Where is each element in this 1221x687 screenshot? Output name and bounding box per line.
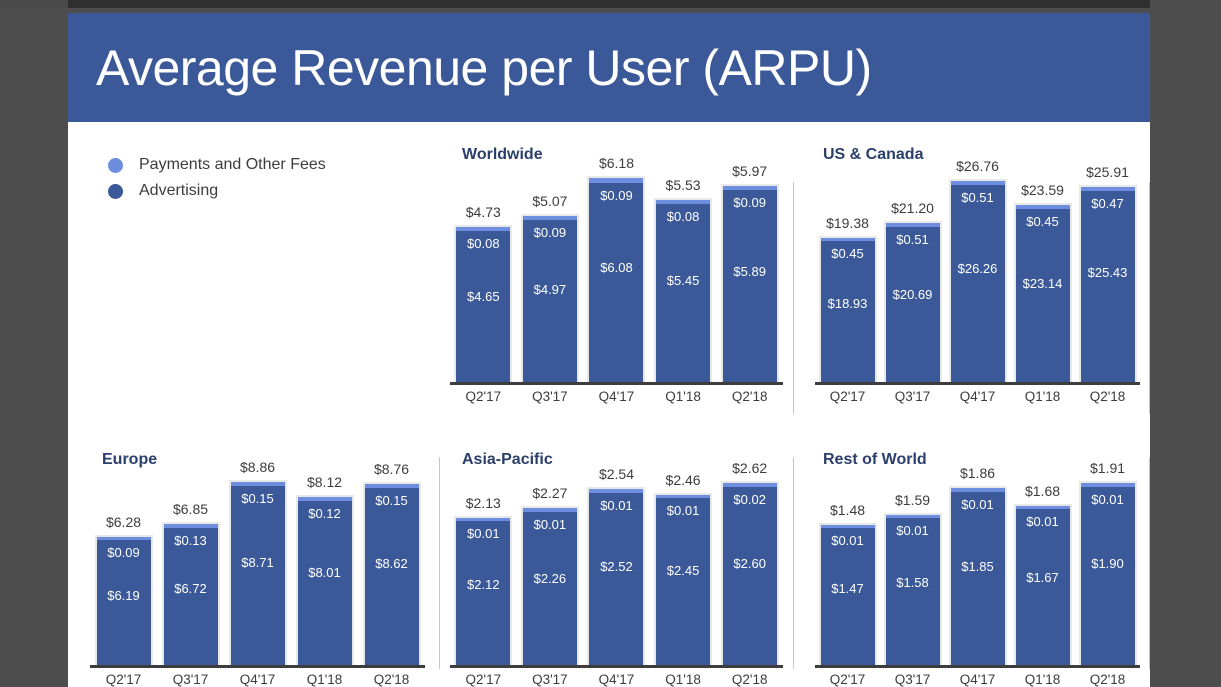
bar-segment-advertising: $0.15$8.71: [231, 486, 285, 668]
bar-slot[interactable]: $2.46$0.01$2.45: [650, 447, 717, 668]
bar-slot[interactable]: $23.59$0.45$23.14: [1010, 142, 1075, 385]
bar-segment-label-payments: $0.01: [1081, 492, 1135, 507]
bar-slot[interactable]: $26.76$0.51$26.26: [945, 142, 1010, 385]
bar-segment-advertising: $0.01$2.12: [456, 521, 510, 668]
x-axis-tick-label: Q4'17: [224, 672, 291, 687]
bar-group: $19.38$0.45$18.93$21.20$0.51$20.69$26.76…: [815, 142, 1140, 385]
bar-slot[interactable]: $1.48$0.01$1.47: [815, 447, 880, 668]
panel-divider: [1149, 457, 1150, 669]
bar-segment-label-payments: $0.02: [723, 492, 777, 507]
bar-segment-label-payments: $0.45: [1016, 214, 1070, 229]
x-axis-tick-label: Q1'18: [1010, 672, 1075, 687]
bar-slot[interactable]: $1.68$0.01$1.67: [1010, 447, 1075, 668]
x-axis-tick-label: Q1'18: [650, 672, 717, 687]
x-axis-line: [90, 665, 425, 668]
chart-row-bottom: Europe$6.28$0.09$6.19$6.85$0.13$6.72$8.8…: [68, 447, 1150, 687]
x-axis-line: [450, 382, 783, 385]
bar-group: $1.48$0.01$1.47$1.59$0.01$1.58$1.86$0.01…: [815, 447, 1140, 668]
x-axis-line: [450, 665, 783, 668]
bar-total-label: $25.91: [1086, 164, 1129, 180]
bar-segment-label-advertising: $4.65: [456, 289, 510, 304]
bar-group: $6.28$0.09$6.19$6.85$0.13$6.72$8.86$0.15…: [90, 447, 425, 668]
chart-legend: Payments and Other Fees Advertising: [80, 142, 435, 200]
bar-segment-advertising: $0.47$25.43: [1081, 191, 1135, 385]
bar-segment-label-payments: $0.09: [97, 545, 151, 560]
bar-total-label: $21.20: [891, 200, 934, 216]
panel-divider: [793, 457, 794, 669]
legend-item-label: Advertising: [139, 182, 218, 200]
stacked-bar[interactable]: $0.01$1.47: [819, 523, 877, 668]
bar-segment-advertising: $0.45$18.93: [821, 241, 875, 385]
bar-segment-label-payments: $0.08: [456, 236, 510, 251]
bar-segment-label-payments: $0.01: [456, 526, 510, 541]
bar-segment-advertising: $0.01$1.67: [1016, 509, 1070, 668]
bar-slot[interactable]: $8.76$0.15$8.62: [358, 447, 425, 668]
stacked-bar[interactable]: $0.12$8.01: [296, 495, 354, 668]
x-axis-tick-label: Q4'17: [583, 389, 650, 413]
stacked-bar[interactable]: $0.01$1.85: [949, 486, 1007, 668]
chart-title: US & Canada: [823, 146, 923, 164]
bar-segment-label-payments: $0.01: [1016, 514, 1070, 529]
chart-panel-europe: Europe$6.28$0.09$6.19$6.85$0.13$6.72$8.8…: [80, 447, 435, 687]
x-axis-tick-label: Q2'18: [716, 672, 783, 687]
bar-total-label: $2.54: [599, 466, 634, 482]
stacked-bar[interactable]: $0.08$5.45: [654, 198, 712, 385]
bar-segment-label-advertising: $6.19: [97, 588, 151, 603]
bar-slot[interactable]: $5.97$0.09$5.89: [716, 142, 783, 385]
bar-segment-label-advertising: $2.45: [656, 563, 710, 578]
chart-panel-worldwide: Worldwide$4.73$0.08$4.65$5.07$0.09$4.97$…: [440, 142, 793, 417]
bar-total-label: $19.38: [826, 215, 869, 231]
bar-segment-label-advertising: $5.45: [656, 273, 710, 288]
circle-icon: [108, 158, 123, 173]
bar-segment-label-payments: $0.01: [589, 498, 643, 513]
chart-title: Europe: [102, 451, 157, 469]
bar-total-label: $2.46: [666, 472, 701, 488]
bar-total-label: $8.76: [374, 461, 409, 477]
stacked-bar[interactable]: $0.01$1.58: [884, 513, 942, 668]
bar-segment-advertising: $0.01$2.45: [656, 498, 710, 668]
x-axis-tick-label: Q2'18: [1075, 389, 1140, 413]
bar-segment-label-payments: $0.13: [164, 533, 218, 548]
stacked-bar-chart: Europe$6.28$0.09$6.19$6.85$0.13$6.72$8.8…: [80, 447, 435, 687]
bar-segment-label-payments: $0.51: [951, 190, 1005, 205]
bar-slot[interactable]: $21.20$0.51$20.69: [880, 142, 945, 385]
bar-segment-label-advertising: $2.12: [456, 577, 510, 592]
bar-slot[interactable]: $6.28$0.09$6.19: [90, 447, 157, 668]
bar-segment-label-payments: $0.01: [821, 533, 875, 548]
bar-slot[interactable]: $1.59$0.01$1.58: [880, 447, 945, 668]
bar-segment-label-advertising: $23.14: [1016, 276, 1070, 291]
bar-segment-label-payments: $0.51: [886, 232, 940, 247]
bar-segment-label-payments: $0.47: [1081, 196, 1135, 211]
x-axis-tick-label: Q2'18: [358, 672, 425, 687]
bar-segment-label-advertising: $25.43: [1081, 265, 1135, 280]
bar-segment-advertising: $0.09$6.19: [97, 540, 151, 668]
bar-group: $4.73$0.08$4.65$5.07$0.09$4.97$6.18$0.09…: [450, 142, 783, 385]
bar-total-label: $2.62: [732, 460, 767, 476]
chart-title: Worldwide: [462, 146, 543, 164]
bar-segment-label-payments: $0.08: [656, 209, 710, 224]
x-axis-tick-label: Q1'18: [650, 389, 717, 413]
x-axis-tick-label: Q2'17: [90, 672, 157, 687]
bar-total-label: $5.53: [666, 177, 701, 193]
panel-divider: [1149, 182, 1150, 414]
bar-segment-advertising: $0.01$2.52: [589, 493, 643, 668]
page-title: Average Revenue per User (ARPU): [96, 39, 872, 97]
bar-segment-label-payments: $0.12: [298, 506, 352, 521]
bar-slot[interactable]: $4.73$0.08$4.65: [450, 142, 517, 385]
bar-segment-label-advertising: $4.97: [523, 282, 577, 297]
chart-row-top: Payments and Other Fees Advertising Worl…: [68, 142, 1150, 417]
bar-slot[interactable]: $19.38$0.45$18.93: [815, 142, 880, 385]
x-axis-tick-label: Q4'17: [945, 672, 1010, 687]
bar-segment-label-advertising: $6.08: [589, 260, 643, 275]
bar-total-label: $1.91: [1090, 460, 1125, 476]
x-axis-tick-label: Q2'17: [815, 389, 880, 413]
stacked-bar[interactable]: $0.02$2.60: [721, 481, 779, 668]
bar-segment-label-advertising: $26.26: [951, 261, 1005, 276]
x-axis-tick-label: Q2'17: [450, 672, 517, 687]
bar-group: $2.13$0.01$2.12$2.27$0.01$2.26$2.54$0.01…: [450, 447, 783, 668]
stacked-bar-chart: Rest of World$1.48$0.01$1.47$1.59$0.01$1…: [805, 447, 1150, 687]
stacked-bar[interactable]: $0.51$20.69: [884, 221, 942, 385]
bar-segment-advertising: $0.01$1.58: [886, 518, 940, 668]
stacked-bar[interactable]: $0.01$2.26: [521, 506, 579, 668]
bar-slot[interactable]: $5.07$0.09$4.97: [517, 142, 584, 385]
stacked-bar[interactable]: $0.47$25.43: [1079, 185, 1137, 385]
bar-total-label: $6.28: [106, 514, 141, 530]
bar-segment-advertising: $0.02$2.60: [723, 487, 777, 668]
stacked-bar[interactable]: $0.08$4.65: [454, 225, 512, 385]
bar-segment-label-payments: $0.01: [656, 503, 710, 518]
slide-header-band: Average Revenue per User (ARPU): [68, 13, 1150, 122]
x-axis-tick-label: Q2'17: [815, 672, 880, 687]
x-axis-tick-labels: Q2'17Q3'17Q4'17Q1'18Q2'18: [815, 389, 1140, 413]
x-axis-tick-label: Q3'17: [157, 672, 224, 687]
stacked-bar[interactable]: $0.13$6.72: [162, 522, 220, 668]
bar-segment-label-payments: $0.09: [523, 225, 577, 240]
bar-total-label: $1.48: [830, 502, 865, 518]
bar-segment-advertising: $0.13$6.72: [164, 528, 218, 668]
circle-icon: [108, 184, 123, 199]
bar-total-label: $5.97: [732, 163, 767, 179]
legend-item-label: Payments and Other Fees: [139, 156, 326, 174]
x-axis-tick-label: Q1'18: [291, 672, 358, 687]
x-axis-tick-label: Q3'17: [880, 389, 945, 413]
bar-segment-advertising: $0.08$5.45: [656, 204, 710, 385]
bar-segment-advertising: $0.08$4.65: [456, 231, 510, 385]
bar-total-label: $6.85: [173, 501, 208, 517]
legend-cell: Payments and Other Fees Advertising: [80, 142, 435, 417]
x-axis-tick-label: Q2'18: [716, 389, 783, 413]
bar-slot[interactable]: $1.91$0.01$1.90: [1075, 447, 1140, 668]
bar-segment-label-advertising: $2.26: [523, 571, 577, 586]
bar-slot[interactable]: $6.18$0.09$6.08: [583, 142, 650, 385]
bar-segment-advertising: $0.51$20.69: [886, 227, 940, 385]
x-axis-tick-label: Q3'17: [880, 672, 945, 687]
bar-segment-advertising: $0.01$1.85: [951, 492, 1005, 668]
bar-slot[interactable]: $1.86$0.01$1.85: [945, 447, 1010, 668]
x-axis-tick-labels: Q2'17Q3'17Q4'17Q1'18Q2'18: [815, 672, 1140, 687]
bar-total-label: $4.73: [466, 204, 501, 220]
x-axis-tick-label: Q2'18: [1075, 672, 1140, 687]
bar-slot[interactable]: $6.85$0.13$6.72: [157, 447, 224, 668]
stacked-bar[interactable]: $0.51$26.26: [949, 179, 1007, 385]
stacked-bar[interactable]: $0.45$18.93: [819, 236, 877, 386]
bar-total-label: $2.13: [466, 495, 501, 511]
stacked-bar-chart: Asia-Pacific$2.13$0.01$2.12$2.27$0.01$2.…: [440, 447, 793, 687]
bar-segment-label-payments: $0.01: [886, 523, 940, 538]
stacked-bar[interactable]: $0.01$2.12: [454, 516, 512, 668]
bar-slot[interactable]: $5.53$0.08$5.45: [650, 142, 717, 385]
panel-divider: [439, 457, 440, 669]
bar-total-label: $1.86: [960, 465, 995, 481]
bar-segment-advertising: $0.15$8.62: [365, 488, 419, 668]
bar-segment-label-payments: $0.09: [589, 188, 643, 203]
bar-segment-advertising: $0.09$5.89: [723, 190, 777, 385]
bar-segment-label-advertising: $1.85: [951, 559, 1005, 574]
x-axis-line: [815, 382, 1140, 385]
x-axis-tick-label: Q1'18: [1010, 389, 1075, 413]
x-axis-tick-label: Q4'17: [945, 389, 1010, 413]
bar-segment-label-advertising: $2.60: [723, 556, 777, 571]
window-top-bar: [68, 0, 1150, 8]
bar-segment-label-payments: $0.09: [723, 195, 777, 210]
stacked-bar[interactable]: $0.15$8.71: [229, 480, 287, 668]
x-axis-tick-label: Q3'17: [517, 672, 584, 687]
stacked-bar[interactable]: $0.09$4.97: [521, 214, 579, 385]
bar-segment-label-payments: $0.15: [231, 491, 285, 506]
x-axis-tick-labels: Q2'17Q3'17Q4'17Q1'18Q2'18: [90, 672, 425, 687]
bar-slot[interactable]: $2.27$0.01$2.26: [517, 447, 584, 668]
bar-slot[interactable]: $8.12$0.12$8.01: [291, 447, 358, 668]
bar-segment-label-advertising: $1.90: [1081, 556, 1135, 571]
bar-total-label: $8.86: [240, 459, 275, 475]
chart-title: Asia-Pacific: [462, 451, 553, 469]
bar-segment-label-advertising: $18.93: [821, 296, 875, 311]
bar-segment-advertising: $0.01$2.26: [523, 512, 577, 668]
bar-segment-label-advertising: $1.67: [1016, 570, 1070, 585]
bar-segment-label-advertising: $5.89: [723, 264, 777, 279]
stacked-bar[interactable]: $0.01$2.45: [654, 493, 712, 668]
bar-segment-label-advertising: $20.69: [886, 287, 940, 302]
x-axis-tick-label: Q3'17: [517, 389, 584, 413]
x-axis-tick-labels: Q2'17Q3'17Q4'17Q1'18Q2'18: [450, 672, 783, 687]
stacked-bar[interactable]: $0.01$1.67: [1014, 504, 1072, 668]
chart-title: Rest of World: [823, 451, 927, 469]
bar-segment-advertising: $0.01$1.90: [1081, 487, 1135, 668]
x-axis-tick-label: Q4'17: [583, 672, 650, 687]
bar-segment-label-advertising: $6.72: [164, 581, 218, 596]
bar-segment-label-advertising: $8.71: [231, 555, 285, 570]
bar-segment-advertising: $0.51$26.26: [951, 185, 1005, 385]
bar-slot[interactable]: $8.86$0.15$8.71: [224, 447, 291, 668]
chart-panel-us-canada: US & Canada$19.38$0.45$18.93$21.20$0.51$…: [805, 142, 1150, 417]
stacked-bar[interactable]: $0.09$6.19: [95, 535, 153, 668]
stacked-bar[interactable]: $0.15$8.62: [363, 482, 421, 668]
x-axis-line: [815, 665, 1140, 668]
x-axis-tick-label: Q2'17: [450, 389, 517, 413]
stacked-bar[interactable]: $0.01$1.90: [1079, 481, 1137, 668]
stacked-bar-chart: US & Canada$19.38$0.45$18.93$21.20$0.51$…: [805, 142, 1150, 417]
bar-total-label: $26.76: [956, 158, 999, 174]
bar-segment-advertising: $0.09$4.97: [523, 220, 577, 385]
chart-panel-rest-of-world: Rest of World$1.48$0.01$1.47$1.59$0.01$1…: [805, 447, 1150, 687]
bar-segment-label-payments: $0.01: [951, 497, 1005, 512]
chart-panel-asia-pacific: Asia-Pacific$2.13$0.01$2.12$2.27$0.01$2.…: [440, 447, 793, 687]
bar-total-label: $1.68: [1025, 483, 1060, 499]
bar-slot[interactable]: $2.62$0.02$2.60: [716, 447, 783, 668]
bar-segment-advertising: $0.12$8.01: [298, 501, 352, 668]
bar-total-label: $23.59: [1021, 182, 1064, 198]
bar-segment-advertising: $0.01$1.47: [821, 528, 875, 668]
bar-segment-label-payments: $0.01: [523, 517, 577, 532]
bar-total-label: $1.59: [895, 492, 930, 508]
bar-slot[interactable]: $2.13$0.01$2.12: [450, 447, 517, 668]
bar-segment-label-advertising: $1.58: [886, 575, 940, 590]
bar-segment-label-payments: $0.15: [365, 493, 419, 508]
stacked-bar[interactable]: $0.09$5.89: [721, 184, 779, 385]
bar-total-label: $2.27: [532, 485, 567, 501]
slide-body: Payments and Other Fees Advertising Worl…: [68, 122, 1150, 687]
legend-item: Payments and Other Fees: [108, 156, 435, 174]
bar-segment-label-payments: $0.45: [821, 246, 875, 261]
legend-item: Advertising: [108, 182, 435, 200]
bar-slot[interactable]: $2.54$0.01$2.52: [583, 447, 650, 668]
bar-segment-label-advertising: $1.47: [821, 581, 875, 596]
window-background-left: [0, 0, 68, 8]
bar-segment-label-advertising: $8.62: [365, 556, 419, 571]
stacked-bar[interactable]: $0.01$2.52: [587, 487, 645, 668]
bar-segment-label-advertising: $2.52: [589, 559, 643, 574]
stacked-bar[interactable]: $0.45$23.14: [1014, 203, 1072, 385]
bar-segment-label-advertising: $8.01: [298, 565, 352, 580]
bar-segment-advertising: $0.09$6.08: [589, 183, 643, 385]
bar-segment-advertising: $0.45$23.14: [1016, 209, 1070, 385]
bar-slot[interactable]: $25.91$0.47$25.43: [1075, 142, 1140, 385]
panel-divider: [793, 182, 794, 414]
presentation-slide: Average Revenue per User (ARPU) Payments…: [68, 13, 1150, 687]
x-axis-tick-labels: Q2'17Q3'17Q4'17Q1'18Q2'18: [450, 389, 783, 413]
bar-total-label: $6.18: [599, 155, 634, 171]
stacked-bar[interactable]: $0.09$6.08: [587, 176, 645, 385]
stacked-bar-chart: Worldwide$4.73$0.08$4.65$5.07$0.09$4.97$…: [440, 142, 793, 417]
bar-total-label: $8.12: [307, 474, 342, 490]
bar-total-label: $5.07: [532, 193, 567, 209]
